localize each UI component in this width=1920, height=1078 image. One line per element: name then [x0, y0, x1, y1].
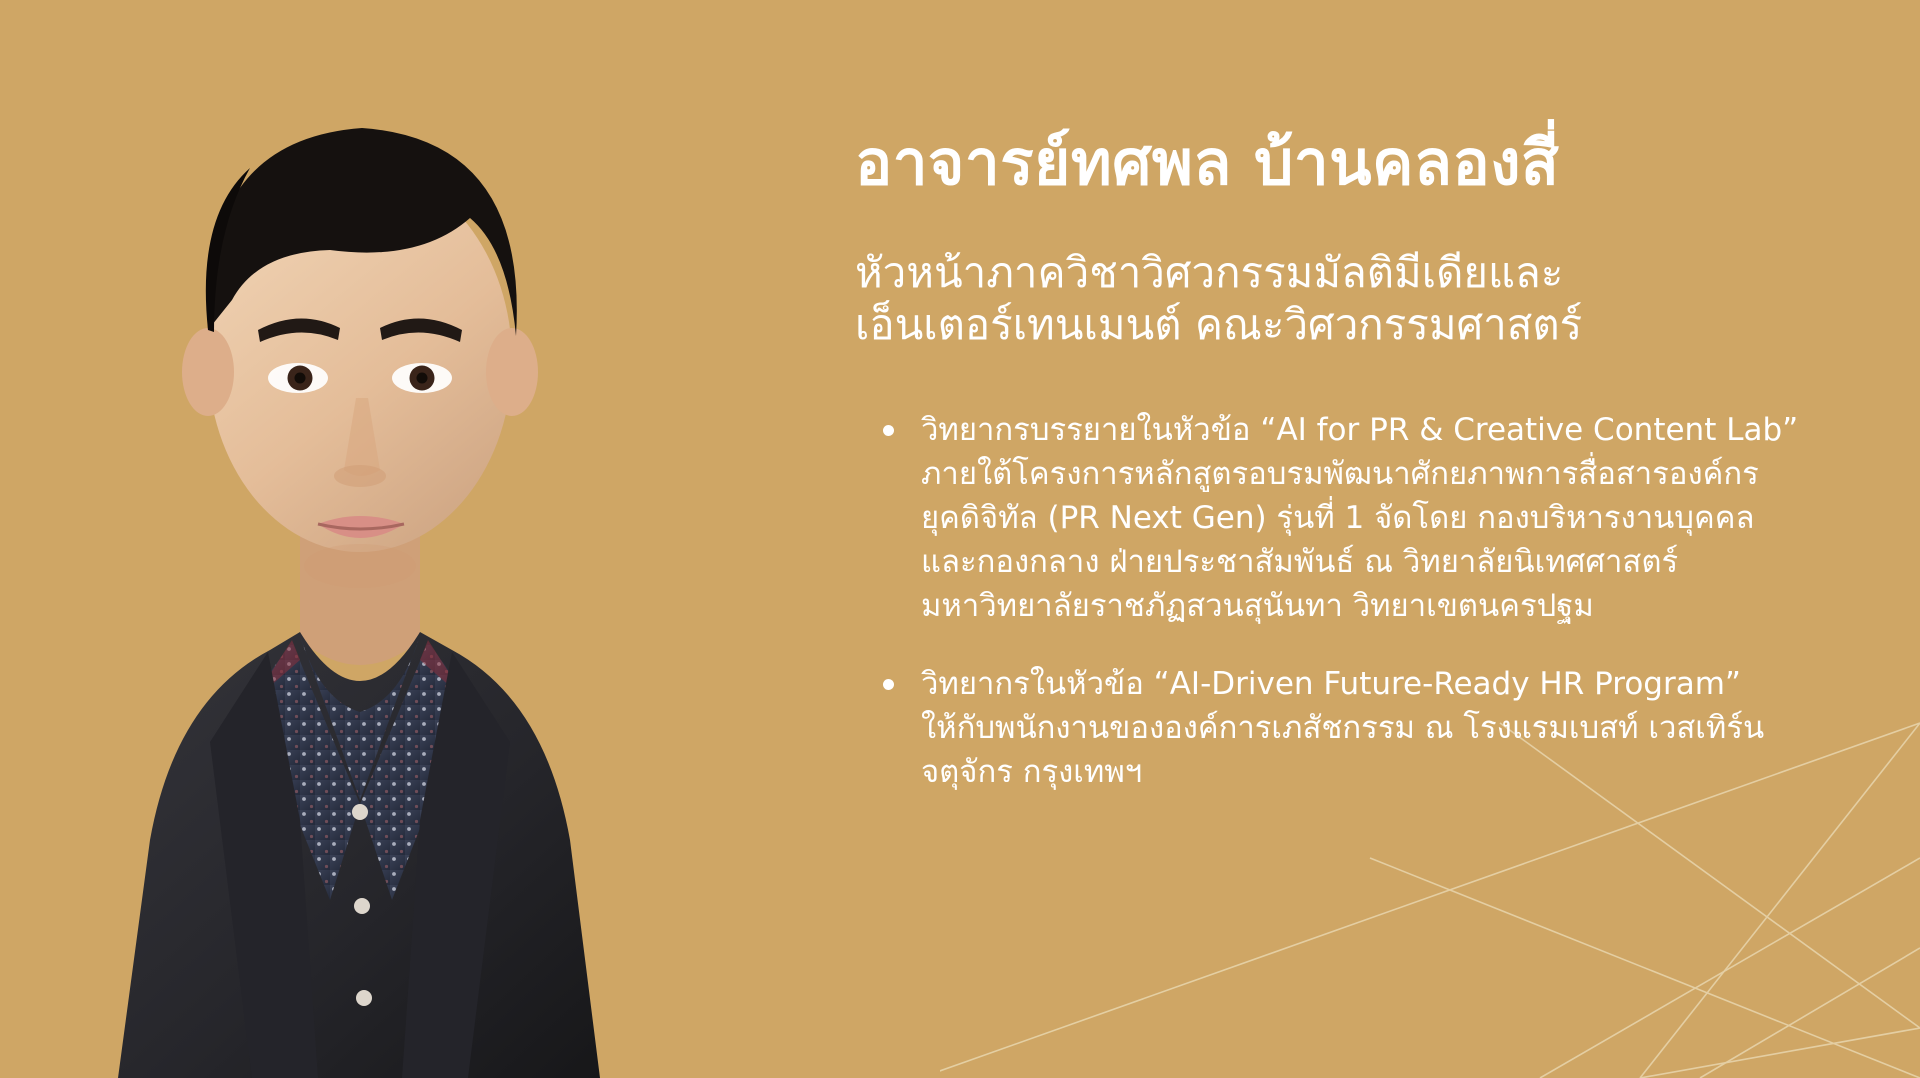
speaker-role-line-1: หัวหน้าภาควิชาวิศวกรรมมัลติมีเดียและ — [855, 248, 1563, 298]
bullet-dot-icon — [883, 679, 894, 690]
speaker-photo — [0, 0, 880, 1078]
activity-text: วิทยากรในหัวข้อ “AI-Driven Future-Ready … — [921, 662, 1879, 794]
speaker-name: อาจารย์ทศพล บ้านคลองสี่ — [855, 130, 1559, 195]
speaker-photo-illustration — [0, 0, 880, 1078]
list-item: วิทยากรในหัวข้อ “AI-Driven Future-Ready … — [869, 662, 1879, 794]
slide-canvas: อาจารย์ทศพล บ้านคลองสี่ หัวหน้าภาควิชาวิ… — [0, 0, 1920, 1078]
activity-list: วิทยากรบรรยายในหัวข้อ “AI for PR & Creat… — [869, 408, 1879, 794]
speaker-role-line-2: เอ็นเตอร์เทนเมนต์ คณะวิศวกรรมศาสตร์ — [855, 300, 1582, 350]
bullet-dot-icon — [883, 425, 894, 436]
list-item: วิทยากรบรรยายในหัวข้อ “AI for PR & Creat… — [869, 408, 1879, 628]
activity-text: วิทยากรบรรยายในหัวข้อ “AI for PR & Creat… — [921, 408, 1879, 628]
text-column: อาจารย์ทศพล บ้านคลองสี่ หัวหน้าภาควิชาวิ… — [855, 0, 1895, 1078]
